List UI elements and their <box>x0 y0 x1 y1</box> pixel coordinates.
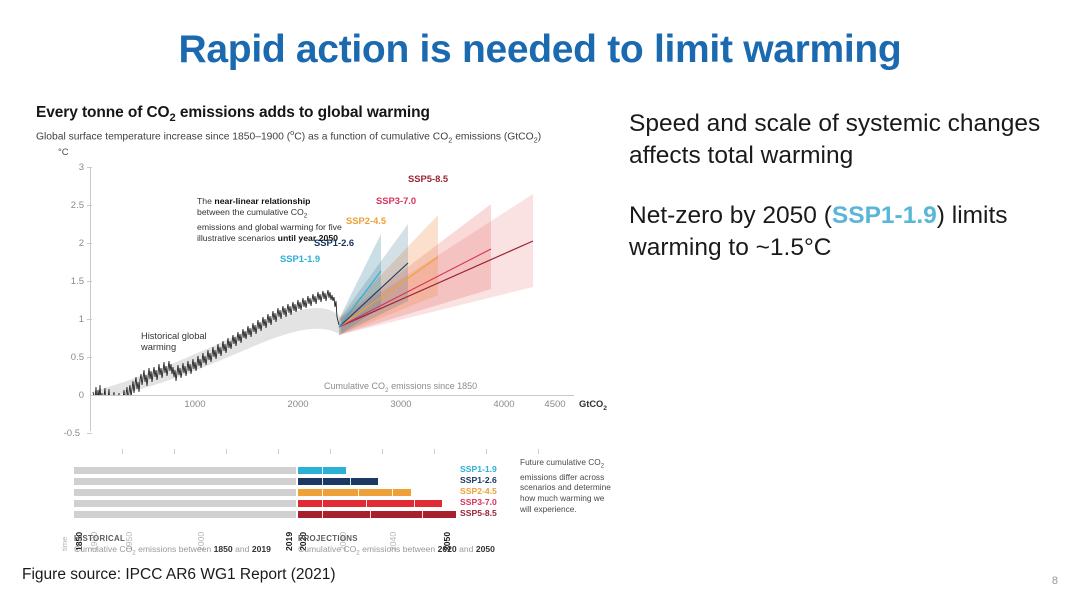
historical-warming-label: Historical globalwarming <box>141 331 207 354</box>
right-paragraph-2: Net-zero by 2050 (SSP1-1.9) limits warmi… <box>629 200 1049 264</box>
ssp1-19-highlight: SSP1-1.9 <box>832 202 937 229</box>
plot-svg <box>36 149 616 449</box>
figure-subtitle: Global surface temperature increase sinc… <box>36 128 616 144</box>
time-axis-label: time <box>60 536 69 550</box>
scenario-label-ssp1-19: SSP1-1.9 <box>280 253 320 264</box>
right-paragraph-1: Speed and scale of systemic changes affe… <box>629 108 1049 172</box>
bar-notch <box>414 500 415 507</box>
bar-historical-row-1 <box>74 467 296 474</box>
bar-notch <box>422 511 423 518</box>
bar-notch <box>350 478 351 485</box>
legend-ssp2-45: SSP2-4.5 <box>460 486 497 496</box>
bar-tick-row <box>36 449 616 455</box>
caption-projection-body: Cumulative CO2 emissions between 2020 an… <box>298 544 495 557</box>
bar-projection-ssp2-45 <box>298 489 411 496</box>
bar-tick <box>330 449 331 454</box>
temperature-vs-emissions-plot: °C 3 2.5 2 1.5 1 0.5 0 -0.5 1000 2000 30… <box>36 149 616 449</box>
bar-historical-row-4 <box>74 500 296 507</box>
netzero-text-before: Net-zero by 2050 ( <box>629 202 832 229</box>
bar-tick <box>174 449 175 454</box>
page-number: 8 <box>1052 575 1058 587</box>
bar-notch <box>322 489 323 496</box>
bar-notch <box>366 500 367 507</box>
bar-tick <box>382 449 383 454</box>
future-emissions-note: Future cumulative CO2 emissions differ a… <box>520 457 612 515</box>
figure-title: Every tonne of CO2 emissions adds to glo… <box>36 104 616 124</box>
bar-tick <box>122 449 123 454</box>
bar-projection-ssp3-70 <box>298 500 442 507</box>
bar-notch <box>322 467 323 474</box>
historical-uncertainty-band <box>94 308 341 399</box>
bar-historical-row-2 <box>74 478 296 485</box>
bar-notch <box>322 511 323 518</box>
year-label-2019: 2019 <box>284 531 294 550</box>
bar-tick <box>434 449 435 454</box>
page-title: Rapid action is needed to limit warming <box>0 28 1080 72</box>
bar-tick <box>226 449 227 454</box>
ipcc-figure: Every tonne of CO2 emissions adds to glo… <box>36 104 616 556</box>
scenario-label-ssp5-85: SSP5-8.5 <box>408 173 448 184</box>
right-text-column: Speed and scale of systemic changes affe… <box>629 108 1049 292</box>
figure-source-note: Figure source: IPCC AR6 WG1 Report (2021… <box>22 566 336 584</box>
bar-tick <box>538 449 539 454</box>
scenario-label-ssp2-45: SSP2-4.5 <box>346 215 386 226</box>
bar-notch <box>370 511 371 518</box>
bar-historical-row-5 <box>74 511 296 518</box>
scenario-label-ssp3-70: SSP3-7.0 <box>376 195 416 206</box>
bar-notch <box>392 489 393 496</box>
scenario-label-ssp1-26: SSP1-2.6 <box>314 237 354 248</box>
bar-historical-row-3 <box>74 489 296 496</box>
legend-ssp1-19: SSP1-1.9 <box>460 464 497 474</box>
legend-ssp1-26: SSP1-2.6 <box>460 475 497 485</box>
caption-projection-heading: PROJECTIONS <box>298 534 358 543</box>
caption-historical-heading: HISTORICAL <box>74 534 125 543</box>
caption-historical-body: Cumulative CO2 emissions between 1850 an… <box>74 544 271 557</box>
bar-tick <box>278 449 279 454</box>
bar-notch <box>358 489 359 496</box>
bar-projection-ssp1-26 <box>298 478 378 485</box>
bar-notch <box>322 478 323 485</box>
legend-ssp3-70: SSP3-7.0 <box>460 497 497 507</box>
legend-ssp5-85: SSP5-8.5 <box>460 508 497 518</box>
bar-tick <box>486 449 487 454</box>
bar-notch <box>322 500 323 507</box>
